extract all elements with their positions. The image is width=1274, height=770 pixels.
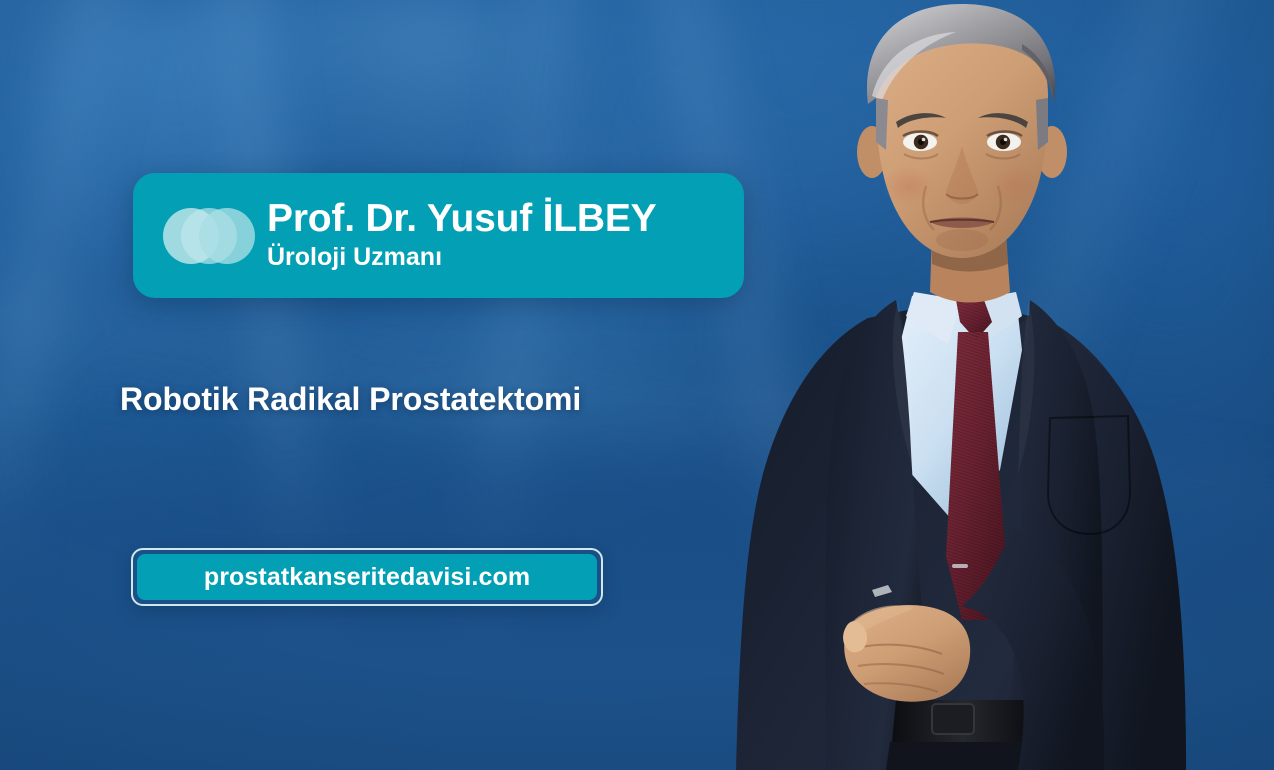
doctor-name-badge: Prof. Dr. Yusuf İLBEY Üroloji Uzmanı (133, 173, 744, 298)
doctor-specialty: Üroloji Uzmanı (267, 243, 657, 272)
procedure-headline: Robotik Radikal Prostatektomi (120, 381, 581, 418)
doctor-promo-banner: Prof. Dr. Yusuf İLBEY Üroloji Uzmanı Rob… (0, 0, 1274, 770)
doctor-name: Prof. Dr. Yusuf İLBEY (267, 199, 657, 240)
website-button-inner[interactable]: prostatkanseritedavisi.com (137, 554, 597, 600)
three-overlapping-circles-icon (163, 208, 255, 264)
doctor-portrait (700, 0, 1220, 770)
website-button[interactable]: prostatkanseritedavisi.com (131, 548, 603, 606)
website-url-label: prostatkanseritedavisi.com (204, 563, 530, 592)
